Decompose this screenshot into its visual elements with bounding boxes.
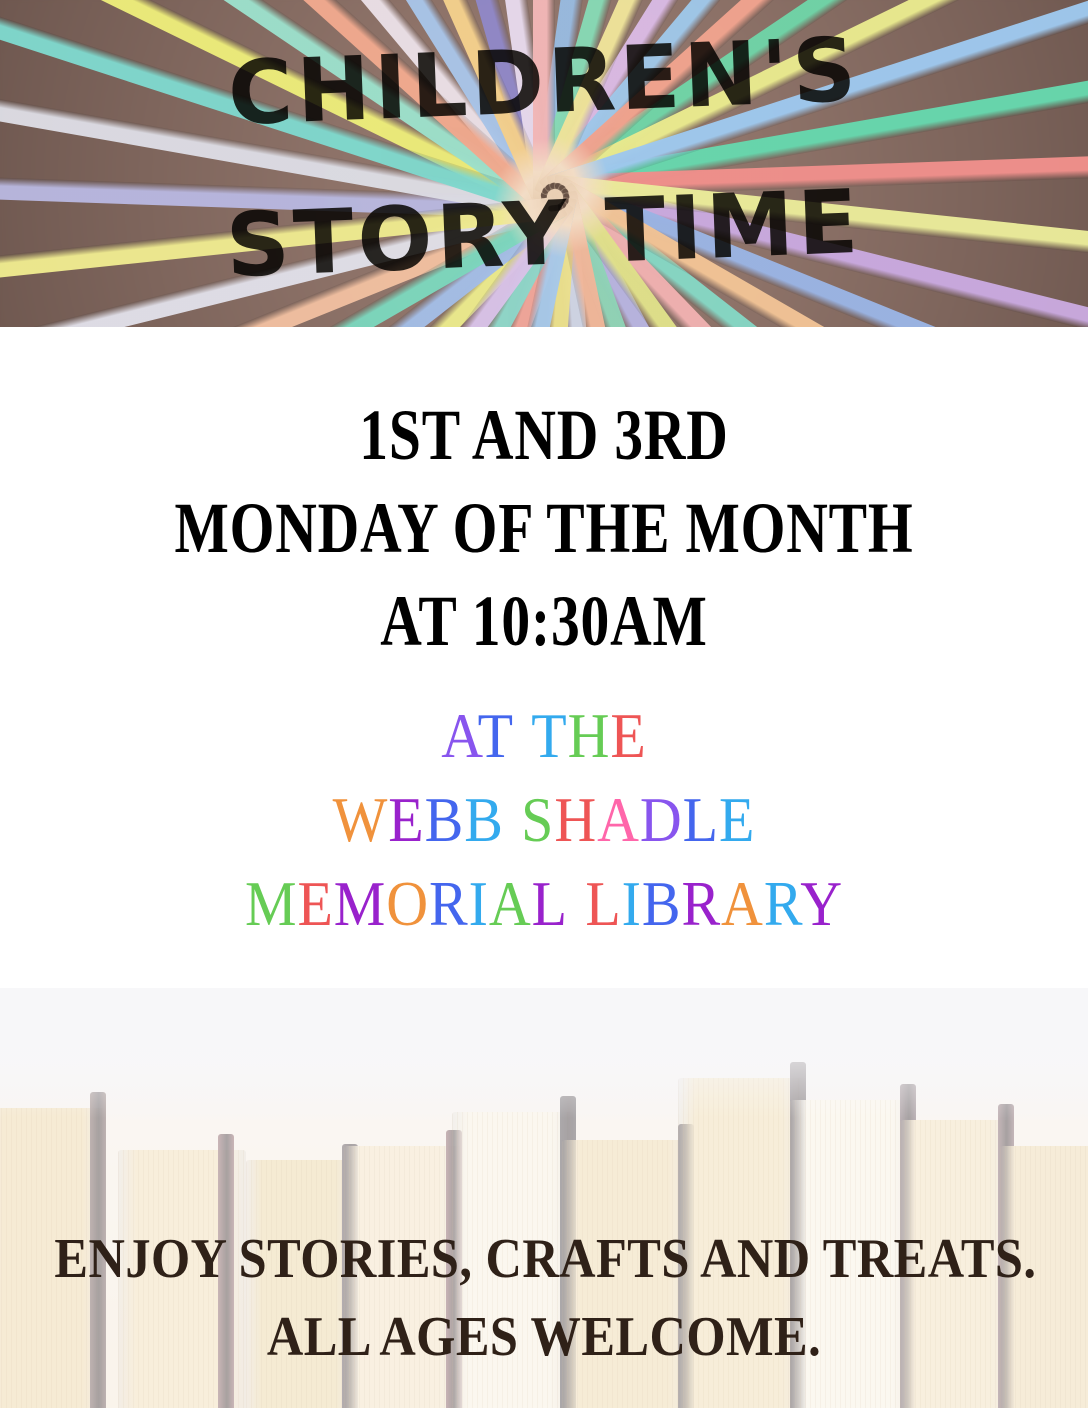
location-letter: R <box>429 869 469 939</box>
schedule-line-2: MONDAY OF THE MONTH <box>109 482 979 575</box>
footer-line-1: ENJOY STORIES, CRAFTS AND TREATS. <box>54 1220 1033 1298</box>
location-letter: B <box>464 785 504 855</box>
location-letter: B <box>425 785 465 855</box>
location-letter: L <box>585 869 621 939</box>
location-block: ATTHEWEBBSHADLEMEMORIALLIBRARY <box>44 694 1045 946</box>
location-letter: E <box>388 785 424 855</box>
footer-line-2: ALL AGES WELCOME. <box>54 1298 1033 1376</box>
location-letter: I <box>622 869 642 939</box>
location-letter: B <box>642 869 682 939</box>
details-section: 1ST AND 3RD MONDAY OF THE MONTH AT 10:30… <box>0 327 1088 988</box>
location-letter: T <box>531 701 567 771</box>
location-letter: L <box>683 785 719 855</box>
location-letter: R <box>681 869 721 939</box>
location-letter: D <box>640 785 683 855</box>
location-letter: E <box>719 785 755 855</box>
location-letter: A <box>721 869 764 939</box>
location-letter: A <box>489 869 532 939</box>
location-letter: O <box>386 869 429 939</box>
location-letter: L <box>532 869 568 939</box>
colored-pencils-image <box>0 0 1088 327</box>
location-letter: A <box>597 785 640 855</box>
location-letter: S <box>521 785 554 855</box>
schedule-block: 1ST AND 3RD MONDAY OF THE MONTH AT 10:30… <box>109 389 979 668</box>
schedule-line-3: AT 10:30AM <box>109 575 979 668</box>
location-letter: R <box>764 869 800 939</box>
location-line-3: MEMORIALLIBRARY <box>44 862 1045 946</box>
footer-message: ENJOY STORIES, CRAFTS AND TREATS. ALL AG… <box>54 1220 1033 1376</box>
books-top-fade <box>0 988 1088 1118</box>
location-letter: A <box>441 701 477 771</box>
location-letter: E <box>610 701 646 771</box>
location-letter: M <box>245 869 297 939</box>
location-letter: Y <box>800 869 843 939</box>
location-letter: W <box>333 785 389 855</box>
location-letter: H <box>568 701 611 771</box>
location-letter: T <box>478 701 514 771</box>
location-letter: H <box>554 785 597 855</box>
footer-books-banner: ENJOY STORIES, CRAFTS AND TREATS. ALL AG… <box>0 988 1088 1408</box>
location-letter: M <box>334 869 386 939</box>
schedule-line-1: 1ST AND 3RD <box>109 389 979 482</box>
location-line-1: ATTHE <box>44 694 1045 778</box>
location-letter: E <box>297 869 333 939</box>
header-pencils-banner: CHILDREN'S STORY TIME <box>0 0 1088 327</box>
flyer-poster: CHILDREN'S STORY TIME 1ST AND 3RD MONDAY… <box>0 0 1088 1408</box>
location-line-2: WEBBSHADLE <box>44 778 1045 862</box>
location-letter: I <box>469 869 489 939</box>
